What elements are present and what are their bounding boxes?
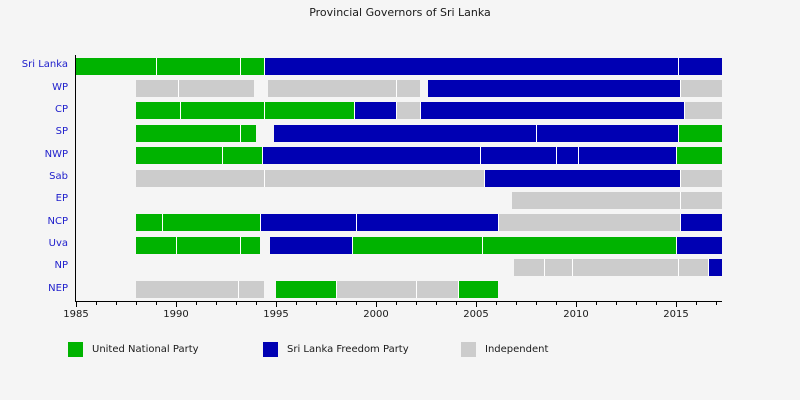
x-axis-tick-label: 1985: [63, 309, 88, 320]
segment-divider: [680, 170, 681, 187]
timeline-row: [76, 281, 722, 298]
timeline-plot-area: [76, 55, 722, 301]
timeline-row: [76, 125, 722, 142]
x-axis-minor-tick: [396, 302, 397, 305]
y-axis-label-ncp: NCP: [0, 216, 68, 227]
segment-divider: [264, 170, 265, 187]
x-axis-minor-tick: [656, 302, 657, 305]
x-axis-line: [76, 301, 722, 302]
x-axis-minor-tick: [596, 302, 597, 305]
timeline-segment[interactable]: [676, 237, 722, 254]
timeline-segment[interactable]: [458, 281, 498, 298]
x-axis-tick: [476, 302, 477, 307]
chart-title: Provincial Governors of Sri Lanka: [0, 6, 800, 19]
x-axis-minor-tick: [516, 302, 517, 305]
x-axis-tick-label: 1995: [263, 309, 288, 320]
timeline-segment[interactable]: [180, 102, 264, 119]
x-axis-minor-tick: [536, 302, 537, 305]
chart-root: Provincial Governors of Sri Lanka Sri La…: [0, 0, 800, 400]
segment-divider: [396, 102, 397, 119]
segment-divider: [708, 259, 709, 276]
x-axis-tick: [176, 302, 177, 307]
x-axis-minor-tick: [636, 302, 637, 305]
segment-divider: [180, 102, 181, 119]
timeline-segment[interactable]: [222, 147, 262, 164]
timeline-segment[interactable]: [136, 125, 240, 142]
y-axis-label-sri-lanka: Sri Lanka: [0, 59, 68, 70]
timeline-row: [76, 170, 722, 187]
x-axis-minor-tick: [616, 302, 617, 305]
x-axis-minor-tick: [556, 302, 557, 305]
timeline-segment[interactable]: [260, 214, 356, 231]
timeline-segment[interactable]: [264, 102, 354, 119]
segment-divider: [484, 170, 485, 187]
legend-label-slfp: Sri Lanka Freedom Party: [287, 344, 409, 355]
timeline-row: [76, 58, 722, 75]
legend-item-slfp[interactable]: Sri Lanka Freedom Party: [263, 341, 409, 357]
segment-divider: [678, 125, 679, 142]
x-axis-tick-label: 2000: [363, 309, 388, 320]
timeline-segment[interactable]: [178, 80, 254, 97]
timeline-segment[interactable]: [678, 58, 722, 75]
x-axis-minor-tick: [196, 302, 197, 305]
timeline-segment[interactable]: [680, 80, 722, 97]
timeline-segment[interactable]: [416, 281, 458, 298]
timeline-segment[interactable]: [262, 147, 480, 164]
y-axis-label-sab: Sab: [0, 171, 68, 182]
x-axis-tick-label: 2010: [563, 309, 588, 320]
legend-swatch-unp: [68, 342, 83, 357]
legend-label-ind: Independent: [485, 344, 548, 355]
timeline-segment[interactable]: [512, 192, 680, 209]
x-axis-minor-tick: [696, 302, 697, 305]
timeline-segment[interactable]: [578, 147, 676, 164]
y-axis-label-uva: Uva: [0, 238, 68, 249]
segment-divider: [222, 147, 223, 164]
timeline-row: [76, 237, 722, 254]
timeline-segment[interactable]: [482, 237, 676, 254]
timeline-segment[interactable]: [240, 237, 260, 254]
y-axis-label-np: NP: [0, 260, 68, 271]
segment-divider: [240, 58, 241, 75]
segment-divider: [336, 281, 337, 298]
x-axis-tick-label: 1990: [163, 309, 188, 320]
segment-divider: [156, 58, 157, 75]
x-axis-minor-tick: [316, 302, 317, 305]
x-axis-minor-tick: [216, 302, 217, 305]
x-axis-minor-tick: [236, 302, 237, 305]
x-axis-minor-tick: [436, 302, 437, 305]
y-axis-label-nwp: NWP: [0, 149, 68, 160]
timeline-segment[interactable]: [156, 58, 240, 75]
timeline-segment[interactable]: [544, 259, 572, 276]
timeline-segment[interactable]: [678, 125, 722, 142]
timeline-segment[interactable]: [274, 125, 536, 142]
timeline-segment[interactable]: [136, 170, 264, 187]
segment-divider: [572, 259, 573, 276]
timeline-segment[interactable]: [676, 147, 722, 164]
x-axis-tick: [676, 302, 677, 307]
x-axis-tick-label: 2005: [463, 309, 488, 320]
segment-divider: [264, 58, 265, 75]
x-axis-tick-label: 2015: [663, 309, 688, 320]
timeline-segment[interactable]: [336, 281, 416, 298]
timeline-segment[interactable]: [240, 125, 256, 142]
segment-divider: [676, 147, 677, 164]
segment-divider: [578, 147, 579, 164]
legend-item-unp[interactable]: United National Party: [68, 341, 199, 357]
timeline-segment[interactable]: [136, 80, 178, 97]
segment-divider: [680, 192, 681, 209]
timeline-segment[interactable]: [276, 281, 336, 298]
legend-label-unp: United National Party: [92, 344, 199, 355]
timeline-segment[interactable]: [162, 214, 260, 231]
legend-item-ind[interactable]: Independent: [461, 341, 548, 357]
segment-divider: [556, 147, 557, 164]
timeline-row: [76, 214, 722, 231]
segment-divider: [544, 259, 545, 276]
x-axis-tick: [276, 302, 277, 307]
segment-divider: [420, 102, 421, 119]
segment-divider: [178, 80, 179, 97]
timeline-segment[interactable]: [238, 281, 264, 298]
timeline-segment[interactable]: [176, 237, 240, 254]
segment-divider: [356, 214, 357, 231]
segment-divider: [416, 281, 417, 298]
segment-divider: [680, 214, 681, 231]
timeline-segment[interactable]: [270, 237, 352, 254]
timeline-segment[interactable]: [354, 102, 396, 119]
segment-divider: [240, 237, 241, 254]
y-axis-label-cp: CP: [0, 104, 68, 115]
x-axis-minor-tick: [336, 302, 337, 305]
segment-divider: [240, 125, 241, 142]
x-axis-minor-tick: [256, 302, 257, 305]
segment-divider: [262, 147, 263, 164]
segment-divider: [162, 214, 163, 231]
timeline-segment[interactable]: [136, 281, 238, 298]
timeline-segment[interactable]: [480, 147, 556, 164]
timeline-segment[interactable]: [420, 102, 684, 119]
timeline-segment[interactable]: [396, 80, 420, 97]
timeline-segment[interactable]: [556, 147, 578, 164]
timeline-segment[interactable]: [136, 102, 180, 119]
timeline-row: [76, 80, 722, 97]
timeline-segment[interactable]: [708, 259, 722, 276]
x-axis-tick: [76, 302, 77, 307]
timeline-segment[interactable]: [572, 259, 678, 276]
timeline-segment[interactable]: [536, 125, 678, 142]
timeline-segment[interactable]: [428, 80, 680, 97]
segment-divider: [458, 281, 459, 298]
timeline-segment[interactable]: [136, 147, 222, 164]
segment-divider: [352, 237, 353, 254]
segment-divider: [238, 281, 239, 298]
timeline-segment[interactable]: [264, 58, 678, 75]
timeline-segment[interactable]: [684, 102, 722, 119]
segment-divider: [354, 102, 355, 119]
segment-divider: [480, 147, 481, 164]
timeline-segment[interactable]: [680, 170, 722, 187]
timeline-row: [76, 259, 722, 276]
y-axis-label-wp: WP: [0, 82, 68, 93]
x-axis-minor-tick: [96, 302, 97, 305]
y-axis-label-sp: SP: [0, 126, 68, 137]
timeline-segment[interactable]: [76, 58, 156, 75]
timeline-segment[interactable]: [514, 259, 544, 276]
x-axis-minor-tick: [156, 302, 157, 305]
segment-divider: [396, 80, 397, 97]
x-axis-minor-tick: [416, 302, 417, 305]
x-axis-minor-tick: [296, 302, 297, 305]
timeline-segment[interactable]: [678, 259, 708, 276]
timeline-segment[interactable]: [356, 214, 498, 231]
segment-divider: [260, 214, 261, 231]
timeline-row: [76, 147, 722, 164]
timeline-segment[interactable]: [264, 170, 484, 187]
segment-divider: [680, 80, 681, 97]
x-axis-minor-tick: [116, 302, 117, 305]
legend-swatch-ind: [461, 342, 476, 357]
x-axis-minor-tick: [456, 302, 457, 305]
x-axis-minor-tick: [716, 302, 717, 305]
timeline-segment[interactable]: [680, 214, 722, 231]
segment-divider: [678, 259, 679, 276]
timeline-segment[interactable]: [136, 214, 162, 231]
legend-swatch-slfp: [263, 342, 278, 357]
segment-divider: [536, 125, 537, 142]
x-axis-tick: [576, 302, 577, 307]
segment-divider: [684, 102, 685, 119]
timeline-segment[interactable]: [680, 192, 722, 209]
x-axis-minor-tick: [136, 302, 137, 305]
x-axis-minor-tick: [496, 302, 497, 305]
x-axis-minor-tick: [356, 302, 357, 305]
segment-divider: [676, 237, 677, 254]
segment-divider: [678, 58, 679, 75]
segment-divider: [498, 214, 499, 231]
x-axis-tick: [376, 302, 377, 307]
timeline-segment[interactable]: [136, 237, 176, 254]
segment-divider: [264, 102, 265, 119]
timeline-segment[interactable]: [268, 80, 396, 97]
segment-divider: [482, 237, 483, 254]
timeline-segment[interactable]: [240, 58, 264, 75]
timeline-segment[interactable]: [352, 237, 482, 254]
timeline-segment[interactable]: [498, 214, 680, 231]
timeline-segment[interactable]: [484, 170, 680, 187]
timeline-segment[interactable]: [396, 102, 420, 119]
y-axis-label-nep: NEP: [0, 283, 68, 294]
timeline-row: [76, 192, 722, 209]
segment-divider: [176, 237, 177, 254]
y-axis-label-ep: EP: [0, 193, 68, 204]
timeline-row: [76, 102, 722, 119]
